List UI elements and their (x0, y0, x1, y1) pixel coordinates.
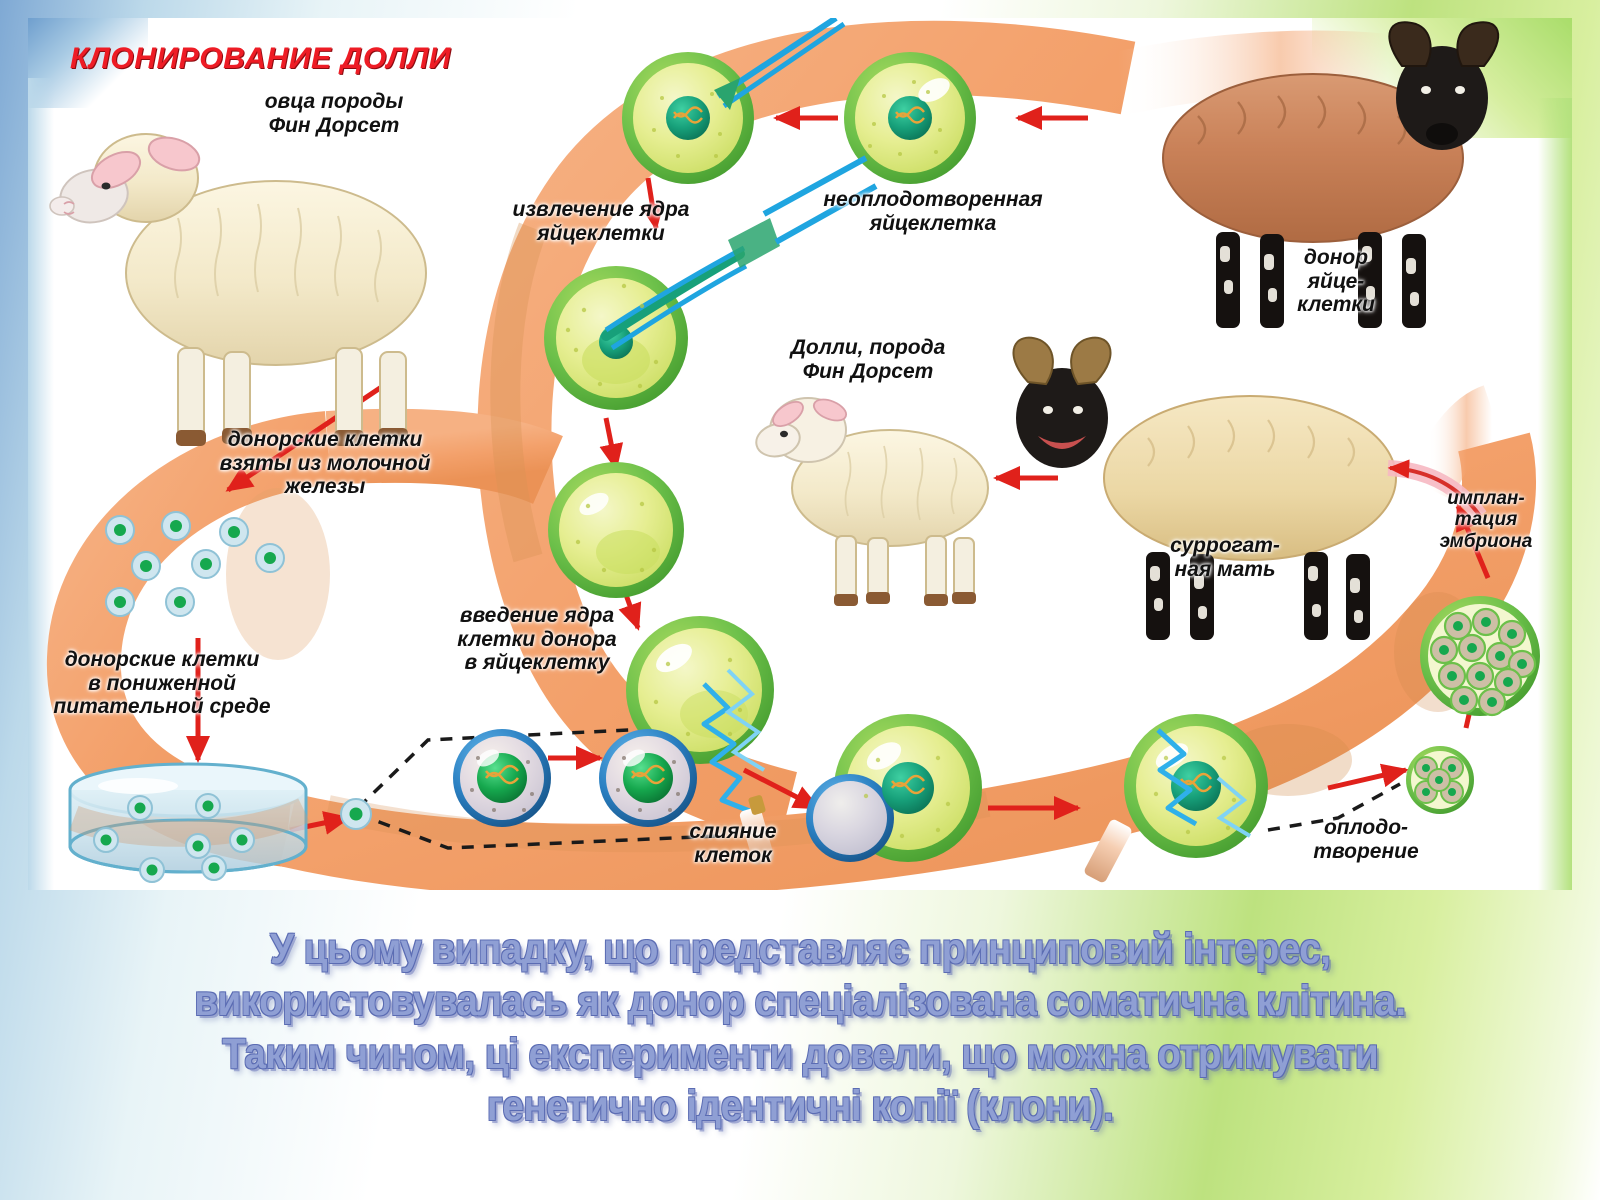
label-donor-cells-medium: донорские клетки в пониженной питательно… (28, 648, 302, 719)
cloning-diagram: овца породы Фин Дорсет донорские клетки … (28, 18, 1572, 890)
stage-donor-cell-1 (453, 729, 551, 827)
stage-egg-with-nucleus (844, 52, 976, 184)
label-enucleation: извлечение ядра яйцеклетки (476, 198, 726, 245)
finn-dorset-ewe (50, 132, 426, 446)
caption-line-4: генетично ідентичні копії (клони). (487, 1083, 1113, 1129)
caption-line-1: У цьому випадку, що представляє принципо… (270, 926, 1331, 972)
label-embryo-implantation: имплан- тация эмбриона (1406, 488, 1566, 552)
label-nucleus-injection: введение ядра клетки донора в яйцеклетку (412, 604, 662, 675)
caption-block: У цьому випадку, що представляє принципо… (0, 900, 1600, 1200)
stage-egg-empty (548, 462, 684, 598)
surrogate-ewe (1013, 338, 1396, 640)
label-fertilization: оплодо- творение (1276, 816, 1456, 863)
label-egg-donor: донор яйце- клетки (1266, 246, 1406, 317)
stage-donor-cell-2 (599, 729, 697, 827)
petri-dish (70, 764, 306, 882)
label-donor-cells-source: донорские клетки взяты из молочной желез… (190, 428, 460, 499)
dolly-lamb (753, 395, 988, 606)
label-unfertilized-egg: неоплодотворенная яйцеклетка (788, 188, 1078, 235)
caption-line-3: Таким чином, ці експерименти довели, що … (222, 1031, 1378, 1077)
label-donor-sheep: овца породы Фин Дорсет (214, 90, 454, 137)
stage-morula (1406, 746, 1474, 814)
arrow-down-2 (606, 418, 616, 468)
label-dolly: Долли, порода Фин Дорсет (748, 336, 988, 383)
slide: овца породы Фин Дорсет донорские клетки … (0, 0, 1600, 1200)
stage-blastocyst (1420, 596, 1540, 716)
label-surrogate-mother: суррогат- ная мать (1140, 534, 1310, 581)
single-donor-cell (341, 799, 371, 829)
caption-line-2: використовувалась як донор спеціалізован… (194, 978, 1405, 1024)
label-cell-fusion: слияние клеток (648, 820, 818, 867)
stage-fused-cell (806, 714, 982, 862)
page-title: КЛОНИРОВАНИЕ ДОЛЛИ (70, 42, 451, 76)
